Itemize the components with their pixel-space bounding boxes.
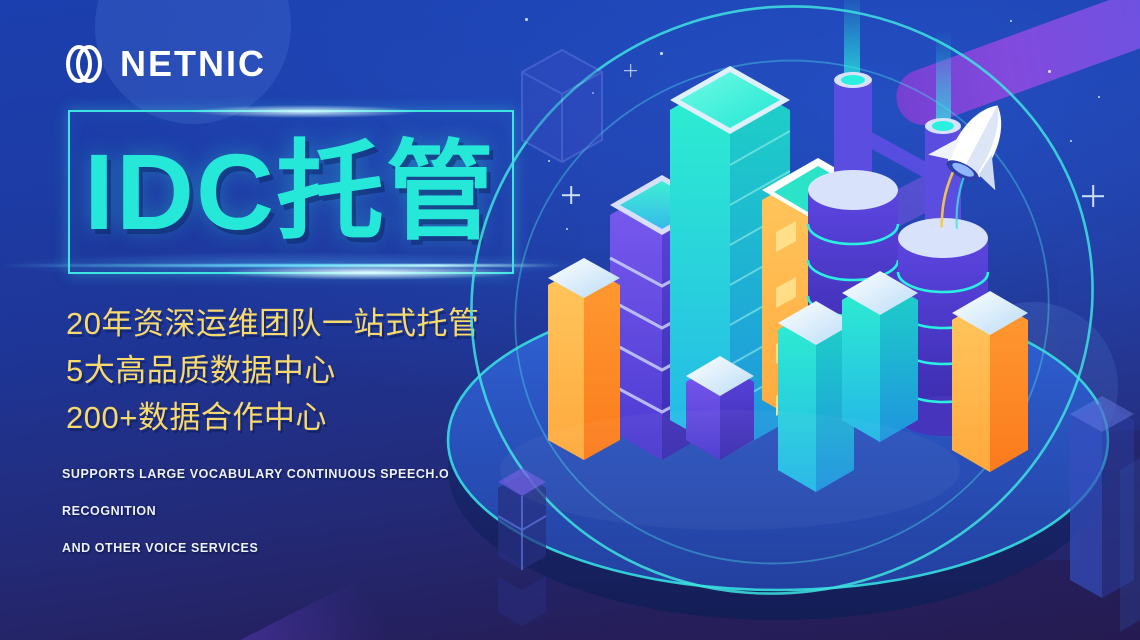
cyan-block — [842, 271, 918, 442]
brand-logo[interactable]: NETNIC — [62, 44, 266, 84]
netnic-double-ellipse-logo-icon — [62, 44, 106, 84]
brand-name: NETNIC — [120, 46, 266, 82]
isometric-city-illustration — [430, 0, 1140, 640]
promo-banner: NETNIC IDC托管 20年资深运维团队一站式托管 5大高品质数据中心 20… — [0, 0, 1140, 640]
dark-tower-far-right — [1120, 458, 1140, 632]
diagonal-band-decoration — [0, 579, 393, 640]
wireframe-cube-back — [522, 50, 602, 162]
platform-highlight — [500, 410, 960, 530]
orange-block-right — [952, 291, 1028, 472]
